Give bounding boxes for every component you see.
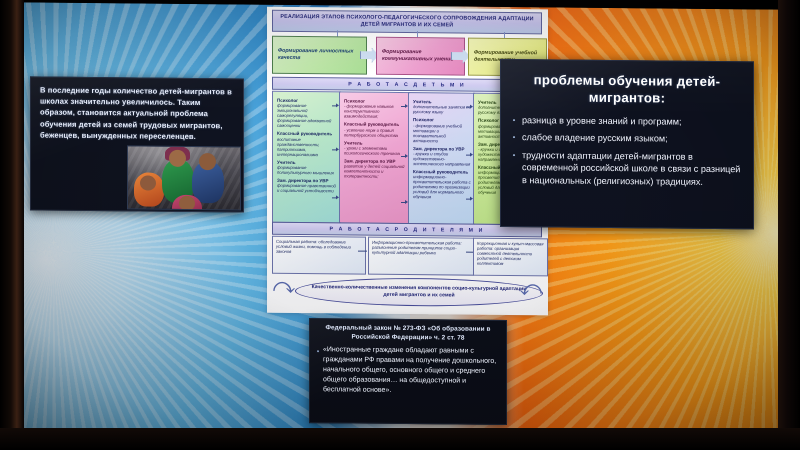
parent-box-correctional-work: Коррекционная и культ-массовая работа: о… [473,238,548,277]
federal-law-panel: Федеральный закон № 273-ФЗ «Об образован… [309,318,507,425]
role-desc: развитие у детей социальной компетентнос… [344,164,406,180]
screen-bezel-left [0,0,24,450]
arrow-right-icon [466,153,473,158]
role-desc: - кружки и студии художественно-эстетиче… [413,151,471,167]
problems-list: разница в уровне знаний и программ; слаб… [501,114,753,188]
intro-text-panel: В последние годы количество детей-мигран… [30,76,244,212]
cycle-arrow-icon: ⤺ [273,276,295,297]
parent-box-information-work: Информационно-просветительская работа: р… [368,237,474,276]
specialist-column-3: Учитель дополнительные занятия по русско… [408,92,475,225]
projector-screen-photograph: РЕАЛИЗАЦИЯ ЭТАПОВ ПСИХОЛОГО-ПЕДАГОГИЧЕСК… [0,0,800,450]
arrow-right-icon [332,147,339,152]
role-desc: формирование поликультурного мышления [277,165,337,176]
specialist-column-2: Психолог - формирование навыков конструк… [339,91,410,224]
problems-title: проблемы обучения детей-мигрантов: [501,60,753,109]
role-desc: формирование эмоциональной саморегуляции… [277,103,337,129]
children-photo [127,145,241,210]
arrow-right-icon [332,195,339,200]
parent-work-boxes: Социальная работа: обследование условий … [272,236,540,271]
problems-panel: проблемы обучения детей-мигрантов: разни… [500,59,754,229]
role-desc: - уроки с элементами психологического тр… [344,145,406,156]
diagram-title: РЕАЛИЗАЦИЯ ЭТАПОВ ПСИХОЛОГО-ПЕДАГОГИЧЕСК… [272,10,542,35]
arrow-right-icon [332,103,339,108]
law-heading: Федеральный закон № 273-ФЗ «Об образован… [310,319,506,343]
intro-paragraph: В последние годы количество детей-мигран… [31,77,243,142]
role-desc: - формирование учебной мотивации и позна… [413,123,471,144]
child-figure [134,172,164,206]
role-desc: дополнительные занятия по русскому языку [413,104,471,115]
arrow-right-icon [466,197,473,202]
arrow-right-icon [401,104,408,109]
role-desc: информационно-просветительская работа с … [413,174,471,200]
parent-box-social-work: Социальная работа: обследование условий … [272,236,366,275]
slide-surface: РЕАЛИЗАЦИЯ ЭТАПОВ ПСИХОЛОГО-ПЕДАГОГИЧЕСК… [22,2,782,438]
list-item: разница в уровне знаний и программ; [513,114,743,129]
stage-box-personal-qualities: Формирование личностных качеств [272,36,367,75]
screen-bezel-bottom [0,428,800,450]
list-item: трудности адаптации детей-мигрантов в со… [513,149,743,188]
role-desc: - усвоение норм и правил петербургского … [344,127,406,138]
role-desc: - формирование навыков конструктивного в… [344,104,406,120]
arrow-right-icon [466,105,473,110]
arrow-right-icon [401,154,408,159]
role-desc: формирование нравственной и социальной у… [277,183,337,194]
result-oval: Качественно-количественные изменения ком… [295,277,543,307]
specialist-column-1: Психолог формирование эмоциональной само… [272,91,341,224]
role-desc: воспитание гражданственности, патриотизм… [277,136,337,157]
screen-bezel-right [778,0,800,450]
cycle-arrow-icon: ⤺ [520,278,542,299]
arrow-right-icon [401,200,408,205]
connector-line [358,251,367,252]
list-item: слабое владение русским языком; [513,131,743,146]
law-quote: «Иностранные граждане обладают равными с… [310,341,506,397]
